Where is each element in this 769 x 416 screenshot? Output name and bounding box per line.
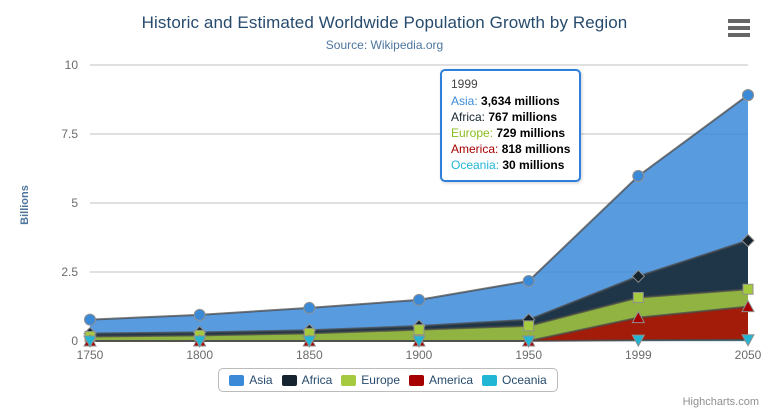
tooltip-series-value: 767 millions — [488, 110, 557, 124]
tooltip-series-value: 30 millions — [502, 158, 564, 172]
data-point-asia[interactable] — [304, 302, 315, 313]
plot-area: 02.557.510 1750180018501900195019992050 … — [0, 0, 769, 416]
data-point-asia[interactable] — [194, 309, 205, 320]
tooltip-rows: Asia: 3,634 millionsAfrica: 767 millions… — [451, 93, 570, 173]
data-point-asia[interactable] — [743, 90, 754, 101]
x-tick-label: 1800 — [186, 348, 213, 362]
tooltip-series-name: Oceania: — [451, 158, 502, 172]
y-axis-title: Billions — [19, 185, 31, 225]
data-point-europe[interactable] — [633, 292, 643, 302]
x-axis-tick-labels: 1750180018501900195019992050 — [77, 348, 762, 362]
legend-label: Asia — [249, 373, 272, 387]
data-point-europe[interactable] — [524, 321, 534, 331]
legend-item-america[interactable]: America — [409, 373, 473, 387]
legend-item-europe[interactable]: Europe — [341, 373, 400, 387]
y-axis-tick-labels: 02.557.510 — [61, 58, 78, 348]
y-tick-label: 0 — [71, 334, 78, 348]
y-tick-label: 5 — [71, 196, 78, 210]
data-point-asia[interactable] — [85, 314, 96, 325]
legend-label: America — [429, 373, 473, 387]
data-point-asia[interactable] — [523, 276, 534, 287]
data-point-europe[interactable] — [414, 325, 424, 335]
tooltip-row-oceania: Oceania: 30 millions — [451, 157, 570, 173]
data-point-asia[interactable] — [633, 171, 644, 182]
legend-label: Africa — [302, 373, 333, 387]
legend-label: Oceania — [502, 373, 547, 387]
x-tick-label: 1950 — [515, 348, 542, 362]
x-tick-label: 1999 — [625, 348, 652, 362]
tooltip-row-europe: Europe: 729 millions — [451, 125, 570, 141]
tooltip-series-value: 729 millions — [496, 126, 565, 140]
tooltip-series-value: 3,634 millions — [481, 94, 560, 108]
legend-swatch-oceania — [482, 375, 497, 386]
tooltip-row-america: America: 818 millions — [451, 141, 570, 157]
tooltip-row-africa: Africa: 767 millions — [451, 109, 570, 125]
x-tick-label: 1900 — [406, 348, 433, 362]
legend-label: Europe — [361, 373, 400, 387]
legend-swatch-america — [409, 375, 424, 386]
credits-label: Highcharts.com — [683, 396, 759, 408]
legend-swatch-europe — [341, 375, 356, 386]
y-tick-label: 7.5 — [61, 127, 78, 141]
tooltip-series-value: 818 millions — [502, 142, 571, 156]
data-point-europe[interactable] — [743, 284, 753, 294]
tooltip-series-name: Africa: — [451, 110, 488, 124]
tooltip-series-name: America: — [451, 142, 502, 156]
highcharts-chart: Historic and Estimated Worldwide Populat… — [0, 0, 769, 416]
legend-item-oceania[interactable]: Oceania — [482, 373, 547, 387]
y-tick-label: 2.5 — [61, 265, 78, 279]
legend-swatch-africa — [282, 375, 297, 386]
legend[interactable]: AsiaAfricaEuropeAmericaOceania — [218, 368, 558, 392]
x-tick-label: 1750 — [77, 348, 104, 362]
legend-swatch-asia — [229, 375, 244, 386]
tooltip: 1999 Asia: 3,634 millionsAfrica: 767 mil… — [440, 69, 581, 182]
tooltip-series-name: Asia: — [451, 94, 481, 108]
tooltip-header: 1999 — [451, 77, 570, 91]
x-tick-label: 2050 — [735, 348, 762, 362]
y-tick-label: 10 — [65, 58, 79, 72]
legend-item-africa[interactable]: Africa — [282, 373, 333, 387]
legend-item-asia[interactable]: Asia — [229, 373, 272, 387]
data-point-asia[interactable] — [414, 294, 425, 305]
tooltip-row-asia: Asia: 3,634 millions — [451, 93, 570, 109]
x-tick-label: 1850 — [296, 348, 323, 362]
tooltip-series-name: Europe: — [451, 126, 496, 140]
